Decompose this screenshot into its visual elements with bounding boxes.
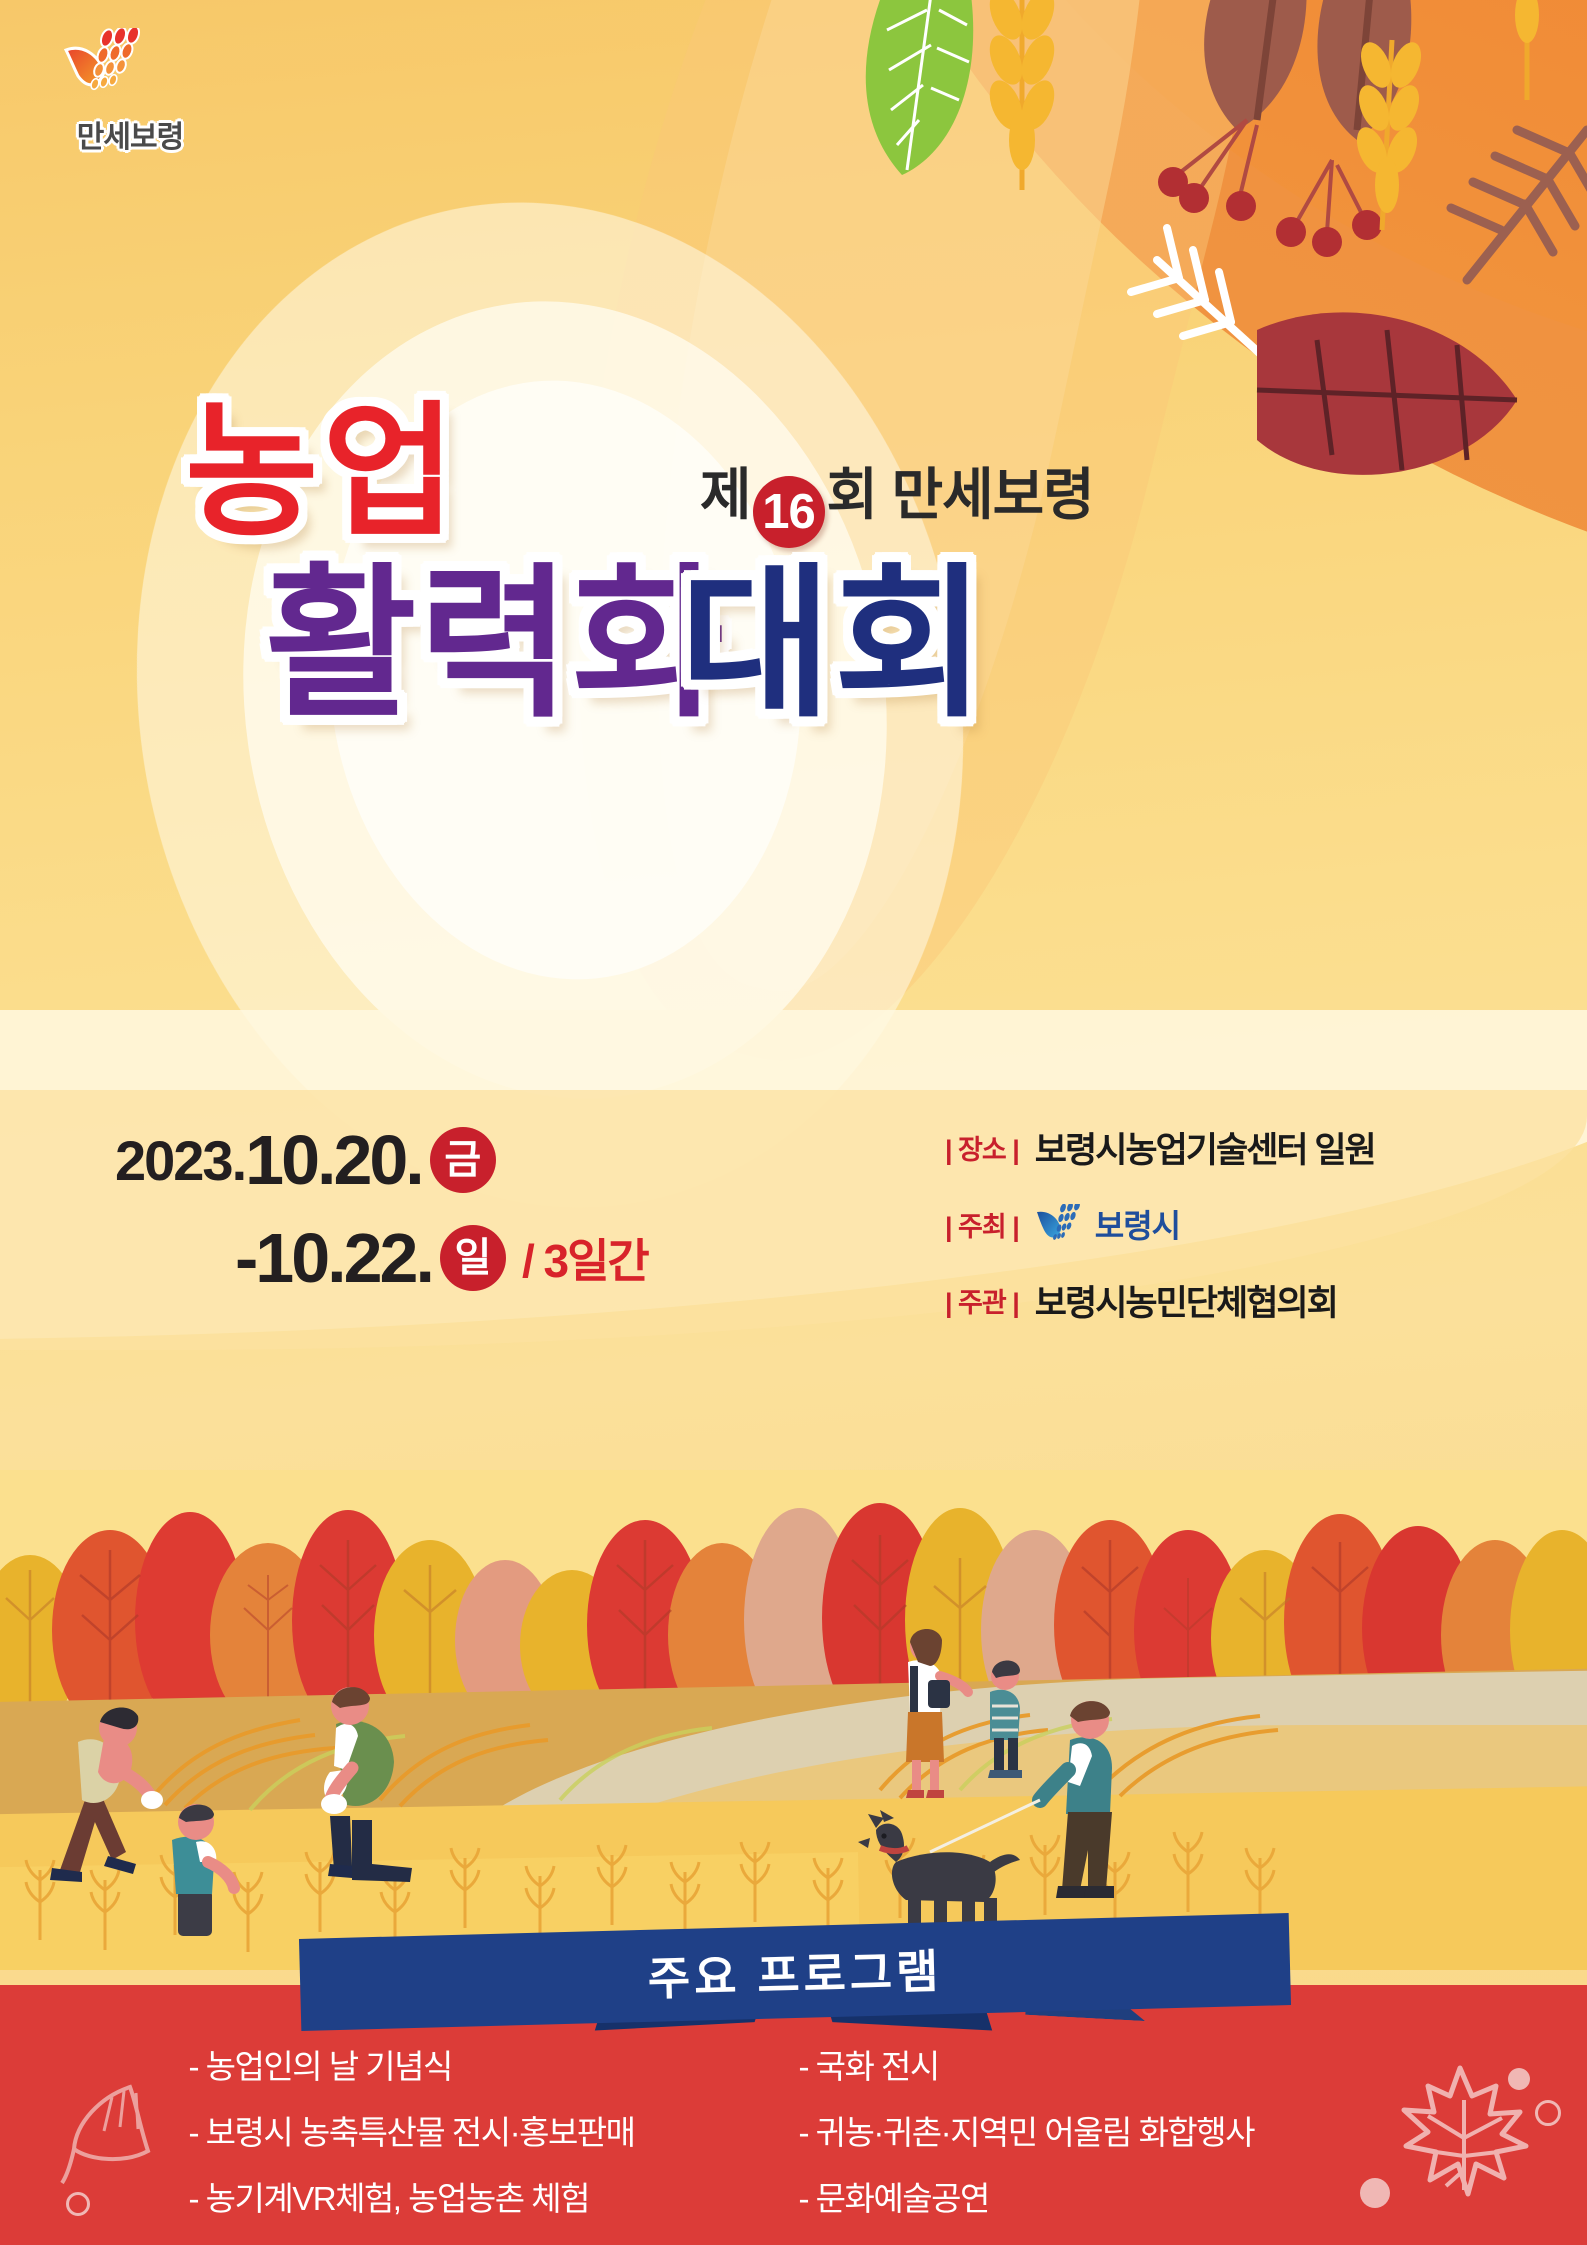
wheat-ear-icon-1 (983, 0, 1060, 190)
program-item: - 보령시 농축특산물 전시·홍보판매 (189, 2106, 769, 2154)
figure-farmer-bending (50, 1707, 163, 1882)
info-value-organizer: 보령시농민단체협의회 (1035, 1275, 1337, 1326)
title-edition-number: 16 (753, 476, 825, 548)
ribbon-banner: 주요 프로그램 (299, 1913, 1291, 2031)
mansebolyeong-logo: 만세보령 (40, 28, 220, 156)
programs-ribbon: 주요 프로그램 (0, 1920, 1587, 2040)
date-duration: / 3일간 (522, 1225, 648, 1291)
date-start-weekday-badge: 금 (430, 1127, 496, 1193)
wheat-ear-icon-3 (1490, 0, 1562, 100)
info-label-host: | 주최 | (945, 1205, 1019, 1244)
figure-child-in-field (172, 1804, 234, 1936)
date-line-end: -10.22. 일 / 3일간 (105, 1218, 725, 1298)
title-main-red: 농업 (185, 400, 460, 545)
date-line-start: 2023. 10.20. 금 (105, 1120, 725, 1200)
info-row-organizer: | 주관 | 보령시농민단체협의회 (945, 1275, 1565, 1326)
title-prefix: 제 (700, 463, 751, 526)
info-label-venue: | 장소 | (945, 1128, 1019, 1167)
logo-wordmark: 만세보령 (40, 112, 220, 156)
fern-brown-icon (1451, 130, 1587, 280)
info-value-venue: 보령시농업기술센터 일원 (1035, 1122, 1375, 1173)
event-info-block: | 장소 | 보령시농업기술센터 일원 | 주최 | (945, 1122, 1565, 1354)
title-main-purple: 활력화 (265, 562, 726, 727)
event-date-block: 2023. 10.20. 금 -10.22. 일 / 3일간 (105, 1120, 725, 1298)
program-item: - 국화 전시 (799, 2040, 1399, 2088)
title-edition-line: 제16회 만세보령 (700, 450, 1094, 548)
programs-column-left: - 농업인의 날 기념식 - 보령시 농축특산물 전시·홍보판매 - 농기계VR… (189, 2040, 769, 2220)
wheat-sprout-emblem-icon (62, 28, 162, 110)
info-row-host: | 주최 | (945, 1201, 1565, 1247)
figure-woman-with-child (906, 1629, 968, 1798)
berry-cluster-icon (1158, 120, 1382, 257)
green-leaf-icon (866, 0, 973, 175)
program-item: - 문화예술공연 (799, 2172, 1399, 2220)
poster-root: 만세보령 농업 제16회 만세보령 활력화 대회 2023. 10.20. 금 … (0, 0, 1587, 2245)
date-year: 2023. (115, 1128, 245, 1193)
title-counter: 회 (827, 463, 878, 526)
program-item: - 귀농·귀촌·지역민 어울림 화합행사 (799, 2106, 1399, 2154)
programs-column-right: - 국화 전시 - 귀농·귀촌·지역민 어울림 화합행사 - 문화예술공연 (799, 2040, 1399, 2220)
program-item: - 농업인의 날 기념식 (189, 2040, 769, 2088)
figure-dog (858, 1810, 1020, 1932)
ribbon-label: 주요 프로그램 (647, 1935, 943, 2009)
poster-title: 농업 제16회 만세보령 활력화 대회 (0, 400, 1587, 742)
title-main-navy: 대회 (680, 562, 988, 727)
date-start-monthday: 10.20. (245, 1120, 422, 1200)
boryeong-wave-icon (1035, 1204, 1087, 1244)
info-value-host: 보령시 (1095, 1201, 1180, 1247)
programs-list: - 농업인의 날 기념식 - 보령시 농축특산물 전시·홍보판매 - 농기계VR… (0, 2040, 1587, 2220)
boryeong-city-logo: 보령시 (1035, 1201, 1180, 1247)
harvest-scene-illustration (0, 1470, 1587, 1970)
date-end-monthday: -10.22. (235, 1218, 432, 1298)
title-org-short: 만세보령 (892, 463, 1094, 526)
figure-farmer-kneeling (321, 1687, 412, 1882)
fern-white-icon (1131, 228, 1267, 360)
scene-figures (0, 1470, 1587, 1970)
date-end-weekday-badge: 일 (440, 1225, 506, 1291)
program-item: - 농기계VR체험, 농업농촌 체험 (189, 2172, 769, 2220)
info-label-organizer: | 주관 | (945, 1281, 1019, 1320)
info-row-venue: | 장소 | 보령시농업기술센터 일원 (945, 1122, 1565, 1173)
